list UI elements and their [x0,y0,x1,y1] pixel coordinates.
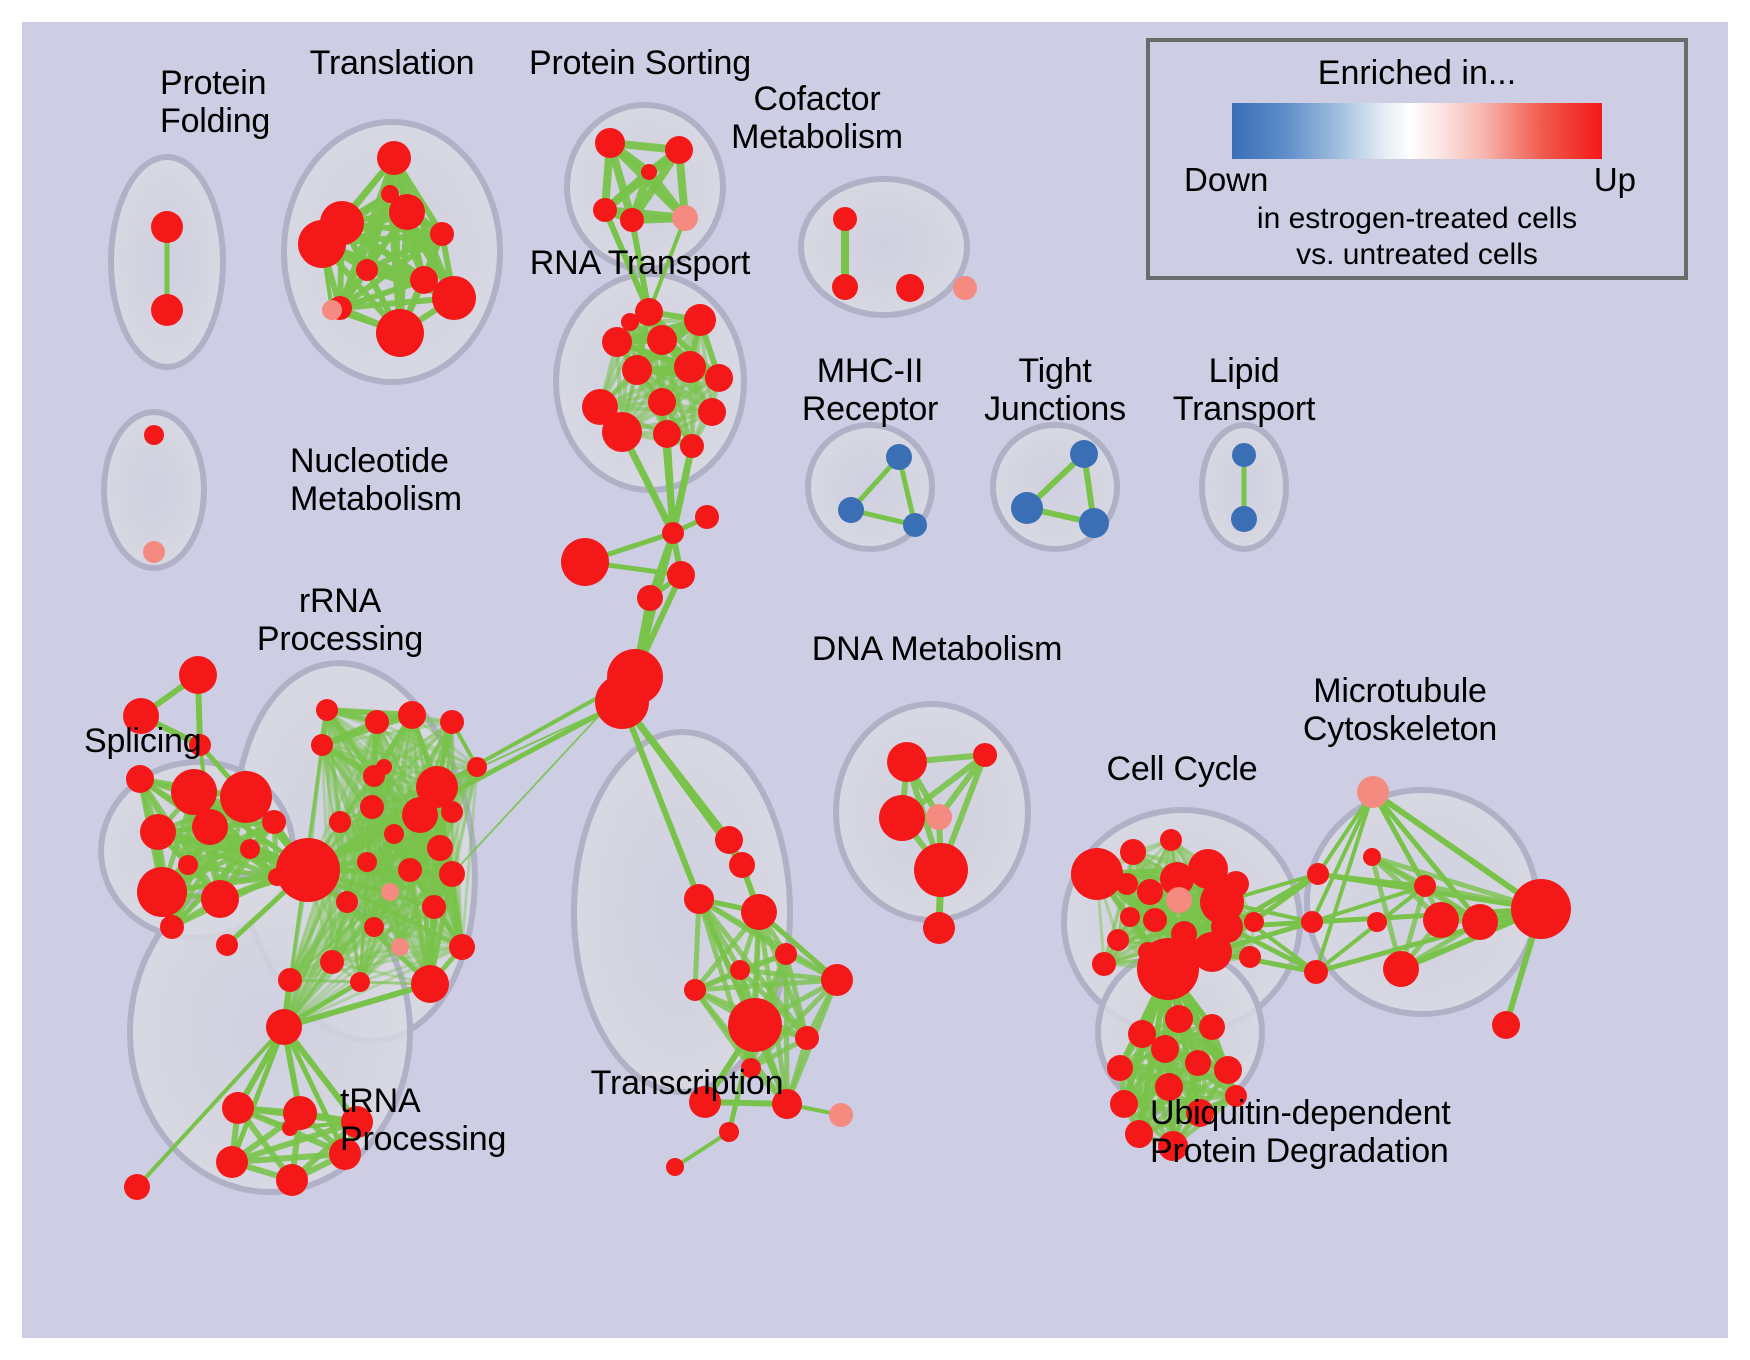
network-node [561,538,609,586]
network-node [329,811,351,833]
legend-box: Enriched in... Down Up in estrogen-treat… [1146,38,1688,280]
network-node [1244,912,1264,932]
network-node [298,220,346,268]
network-node [914,843,968,897]
network-node [684,304,716,336]
network-node [282,1120,298,1136]
network-node [276,1164,308,1196]
network-node [719,1122,739,1142]
network-node [171,769,217,815]
network-node [775,943,797,965]
cluster-label-rrna-processing: rRNA Processing [257,582,423,658]
network-node [953,276,977,300]
network-node [1165,1005,1193,1033]
network-node [923,912,955,944]
network-node [715,826,743,854]
network-node [602,327,632,357]
network-node [201,880,239,918]
network-node [665,136,693,164]
network-node [216,934,238,956]
network-node [637,585,663,611]
network-node [467,757,487,777]
legend-low-label: Down [1184,161,1268,199]
network-node [222,1092,254,1124]
network-node [1071,848,1123,900]
network-node [926,804,952,830]
cluster-label-nucleotide: Nucleotide Metabolism [290,442,462,518]
network-node [621,313,639,331]
network-node [741,894,777,930]
network-node [151,294,183,326]
network-node [698,398,726,426]
network-node [1070,440,1098,468]
network-node [1079,508,1109,538]
network-node [160,915,184,939]
network-node [680,434,704,458]
network-node [695,505,719,529]
network-node [622,355,652,385]
network-node [440,710,464,734]
network-node [1137,879,1163,905]
network-node [377,141,411,175]
network-node [268,868,286,886]
network-node [1110,1090,1138,1118]
network-node [1462,904,1498,940]
network-node [1125,1120,1153,1148]
network-node [641,164,657,180]
network-node [1199,1014,1225,1040]
network-node [887,742,927,782]
network-node [311,734,333,756]
network-node [140,814,176,850]
network-node [666,1158,684,1176]
network-node [648,388,676,416]
cluster-label-rna-transport: RNA Transport [530,244,750,282]
network-node [384,824,404,844]
network-node [1223,871,1249,897]
network-node [635,298,663,326]
network-node [662,522,684,544]
network-node [1107,929,1129,951]
network-node [886,444,912,470]
network-node [316,699,338,721]
network-node [336,891,358,913]
cluster-label-microtubule: Microtubule Cytoskeleton [1303,672,1497,748]
network-node [1304,960,1328,984]
network-node [350,972,370,992]
legend-subtitle-line1: in estrogen-treated cells [1150,201,1684,237]
network-node [1231,506,1257,532]
cluster-label-protein-folding: Protein Folding [160,64,270,140]
network-node [144,425,164,445]
network-node [1166,887,1192,913]
network-node [832,274,858,300]
network-node [674,351,706,383]
network-node [389,194,425,230]
network-node [439,861,465,887]
network-node [381,883,399,901]
network-node [441,801,463,823]
network-node [449,934,475,960]
legend-high-label: Up [1594,161,1636,199]
network-node [364,917,384,937]
network-node [124,1174,150,1200]
network-node [647,325,677,355]
network-node [879,795,925,841]
cluster-label-dna-metabolism: DNA Metabolism [812,630,1062,668]
network-node [672,205,698,231]
network-canvas: Protein FoldingTranslationProtein Sortin… [22,22,1728,1338]
network-node [1092,952,1116,976]
network-node [730,960,750,980]
legend-colorbar [1232,103,1602,159]
network-node [151,211,183,243]
network-node [1185,1050,1211,1076]
cluster-label-tight-junctions: Tight Junctions [984,352,1126,428]
network-node [322,300,342,320]
network-node [1160,829,1182,851]
network-node [240,839,260,859]
network-node [178,855,198,875]
network-node [365,710,389,734]
network-node [838,497,864,523]
cluster-label-lipid-transport: Lipid Transport [1173,352,1315,428]
network-node [705,364,733,392]
network-node [276,838,340,902]
network-node [1423,902,1459,938]
network-node [411,965,449,1003]
network-node [653,420,681,448]
cluster-label-transcription: Transcription [591,1064,784,1102]
network-node [896,274,924,302]
network-node [376,759,392,775]
network-node [593,198,617,222]
network-node [595,675,649,729]
network-node [1357,776,1389,808]
network-node [376,309,424,357]
network-node [179,656,217,694]
cluster-label-splicing: Splicing [84,722,201,760]
network-node [1301,911,1323,933]
network-node [266,1009,302,1045]
cluster-label-translation: Translation [310,44,475,82]
network-node [903,513,927,537]
network-node [1511,879,1571,939]
network-node [430,222,454,246]
network-node [595,128,625,158]
network-node [356,259,378,281]
network-node [262,810,286,834]
cluster-label-trna-processing: tRNA Processing [340,1082,506,1158]
network-node [795,1026,819,1050]
cluster-label-mhc-ii: MHC-II Receptor [802,352,938,428]
network-node [126,765,154,793]
network-node [1120,839,1146,865]
cluster-label-cofactor: Cofactor Metabolism [731,80,903,156]
network-node [1239,946,1261,968]
network-node [1414,875,1436,897]
network-node [684,884,714,914]
network-node [192,809,228,845]
network-node [1492,1011,1520,1039]
network-node [602,412,642,452]
cluster-label-protein-sorting: Protein Sorting [529,44,751,82]
network-node [216,1146,248,1178]
network-node [821,964,853,996]
network-node [728,998,782,1052]
figure-root: Protein FoldingTranslationProtein Sortin… [0,0,1750,1360]
network-node [1011,492,1043,524]
cluster-hull-cofactor [801,179,967,315]
network-node [1232,443,1256,467]
network-node [1107,1055,1133,1081]
network-node [1367,912,1387,932]
network-node [684,979,706,1001]
legend-endpoints: Down Up [1182,161,1652,201]
network-node [833,207,857,231]
network-node [973,743,997,767]
network-node [422,895,446,919]
network-node [1128,1020,1156,1048]
network-node [278,968,302,992]
network-node [729,852,755,878]
network-node [427,835,453,861]
network-node [620,208,644,232]
network-node [1307,863,1329,885]
network-node [1151,1035,1179,1063]
legend-subtitle-line2: vs. untreated cells [1150,237,1684,273]
network-node [360,795,384,819]
network-node [829,1103,853,1127]
network-node [432,276,476,320]
cluster-label-ubiquitin: Ubiquitin-dependent Protein Degradation [1150,1094,1451,1170]
network-node [1120,907,1140,927]
network-node [1383,951,1419,987]
network-node [391,938,409,956]
network-node [667,561,695,589]
network-node [1143,908,1167,932]
network-node [320,950,344,974]
cluster-label-cell-cycle: Cell Cycle [1106,750,1257,788]
network-node [1214,1056,1242,1084]
network-node [137,867,187,917]
network-node [357,852,377,872]
network-node [1116,873,1138,895]
network-node [398,858,422,882]
legend-title: Enriched in... [1150,54,1684,93]
network-node [402,797,438,833]
network-node [398,701,426,729]
network-node [1174,938,1206,970]
network-node [143,541,165,563]
network-node [1363,848,1381,866]
